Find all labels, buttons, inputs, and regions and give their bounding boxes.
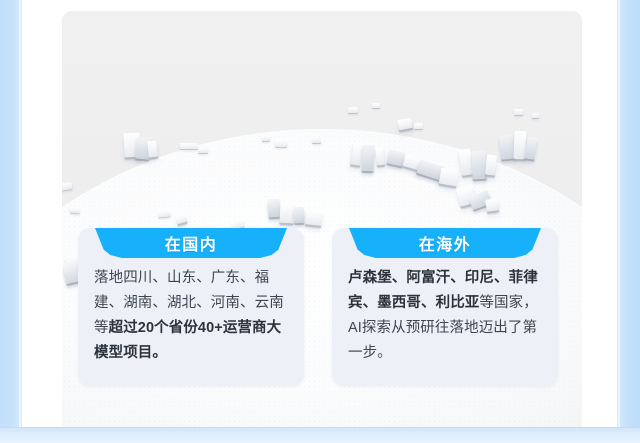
- landmass-block: [180, 143, 198, 149]
- card-body-overseas: 卢森堡、阿富汗、印尼、菲律宾、墨西哥、利比亚等国家，AI探索从预研往落地迈出了第…: [348, 266, 544, 366]
- landmass-block: [362, 145, 375, 171]
- bottom-accent-band: [0, 427, 640, 443]
- left-rail-seam: [19, 0, 21, 443]
- bottom-band-divider: [0, 427, 640, 428]
- landmass-block: [267, 199, 280, 218]
- landmass-block: [372, 103, 380, 108]
- right-rail-seam: [618, 0, 620, 443]
- landmass-block: [158, 210, 171, 217]
- landmass-block: [375, 147, 385, 166]
- landmass-block: [439, 168, 460, 187]
- landmass-block: [262, 135, 270, 141]
- landmass-block: [485, 155, 497, 176]
- landmass-block: [198, 147, 208, 153]
- landmass-block: [348, 107, 358, 113]
- landmass-block: [485, 198, 499, 212]
- landmass-block: [532, 113, 539, 118]
- landmass-block: [312, 137, 321, 143]
- right-edge-rail: [617, 0, 640, 443]
- landmass-block: [305, 210, 323, 226]
- left-edge-rail: [0, 0, 22, 443]
- landmass-block: [471, 151, 486, 180]
- info-card-domestic[interactable]: 在国内 落地四川、山东、广东、福建、湖南、湖北、河南、云南等超过20个省份40+…: [78, 228, 304, 386]
- page-root: 在国内 落地四川、山东、广东、福建、湖南、湖北、河南、云南等超过20个省份40+…: [0, 0, 640, 443]
- card-tab-domestic[interactable]: 在国内: [95, 228, 287, 258]
- landmass-block: [414, 123, 423, 129]
- info-card-overseas[interactable]: 在海外 卢森堡、阿富汗、印尼、菲律宾、墨西哥、利比亚等国家，AI探索从预研往落地…: [332, 228, 558, 386]
- landmass-block: [147, 141, 158, 158]
- landmass-block: [70, 207, 80, 214]
- landmass-block: [294, 207, 305, 223]
- card-body-domestic-emphasis: 超过20个省份40+运营商大模型项目。: [94, 320, 281, 361]
- landmass-block: [275, 140, 287, 147]
- landmass-block: [279, 203, 294, 224]
- card-tab-overseas[interactable]: 在海外: [349, 228, 541, 258]
- card-body-domestic: 落地四川、山东、广东、福建、湖南、湖北、河南、云南等超过20个省份40+运营商大…: [94, 266, 290, 366]
- landmass-block: [514, 109, 523, 115]
